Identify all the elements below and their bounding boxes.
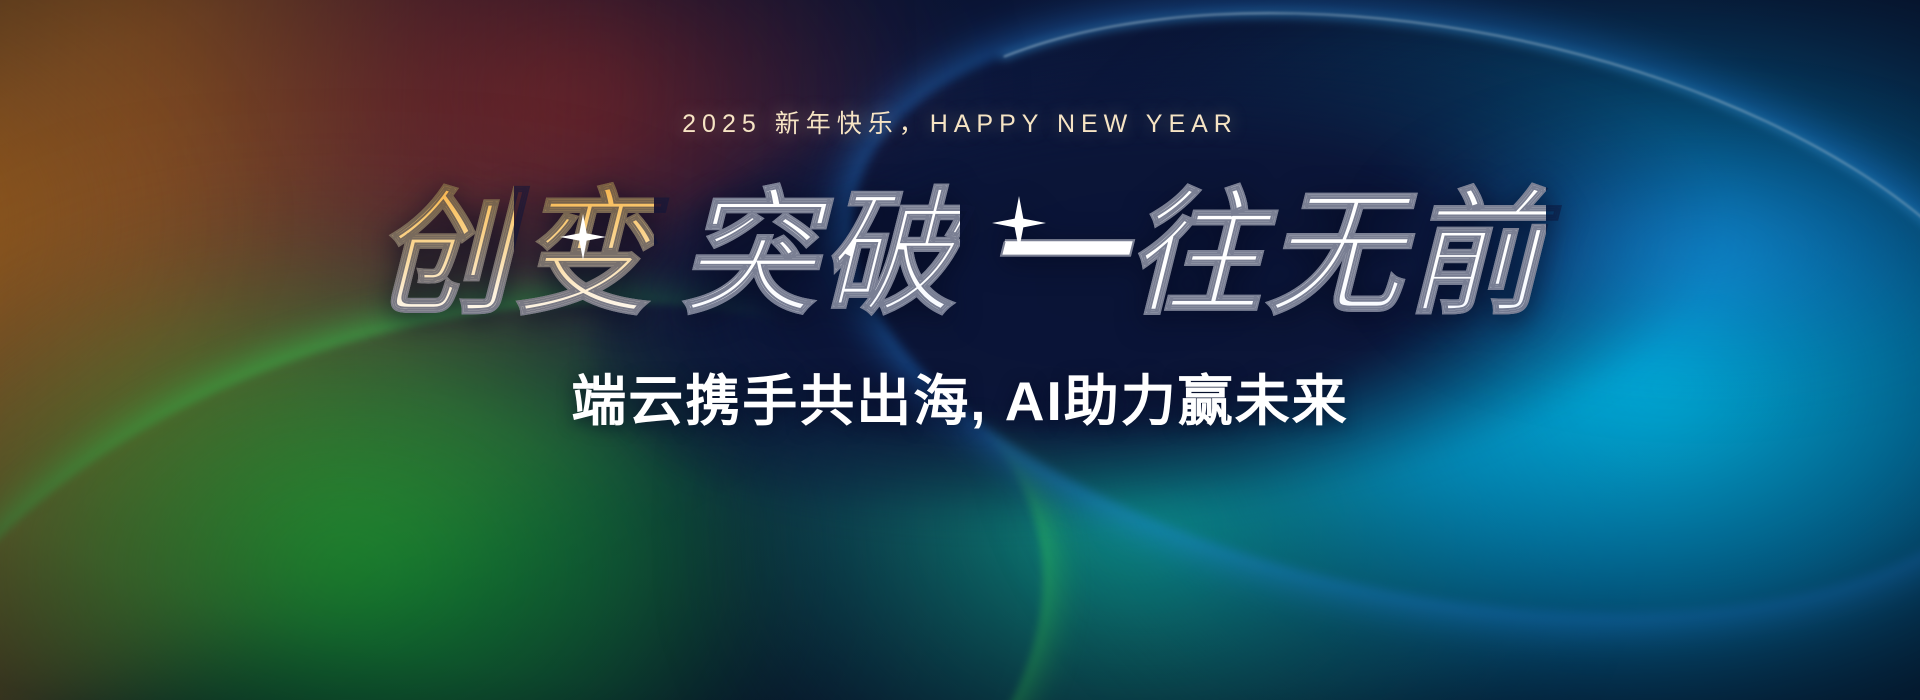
subtitle-text: 端云携手共出海, AI助力赢未来 — [571, 356, 1349, 436]
new-year-banner: 2025 新年快乐，HAPPY NEW YEAR 创变突破一往无前 端云携手共出… — [0, 0, 1920, 700]
headline-gold-1: 创 — [374, 178, 514, 330]
eyebrow-text: 2025 新年快乐，HAPPY NEW YEAR — [682, 104, 1238, 140]
banner-content: 2025 新年快乐，HAPPY NEW YEAR 创变突破一往无前 端云携手共出… — [0, 0, 1920, 700]
headline-white-2: 一往无前 — [986, 178, 1546, 330]
headline-white-1: 突破 — [680, 178, 960, 330]
headline-gold-2: 变 — [514, 178, 654, 330]
headline: 创变突破一往无前 — [374, 186, 1546, 322]
